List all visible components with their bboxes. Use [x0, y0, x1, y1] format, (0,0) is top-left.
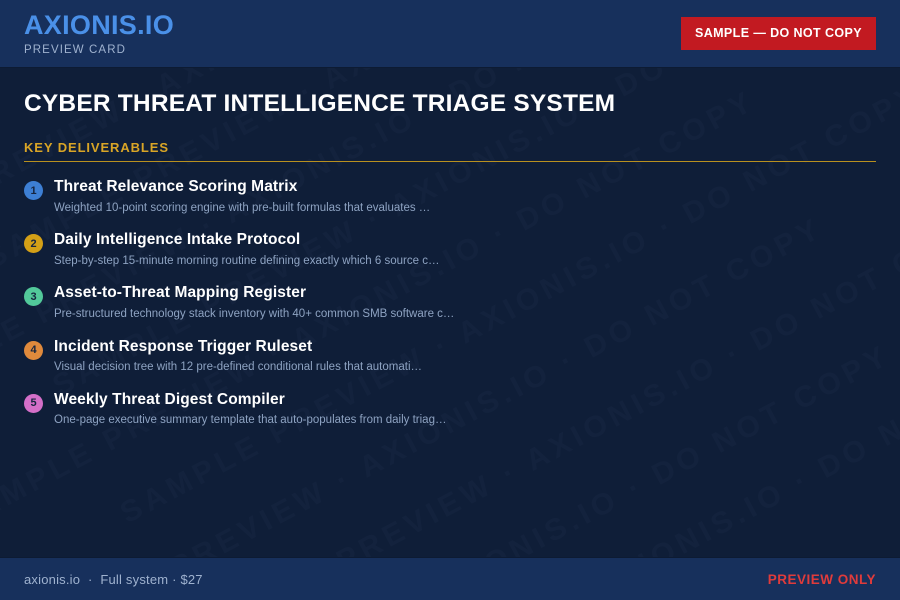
preview-only-label: PREVIEW ONLY: [768, 572, 876, 587]
deliverable-text: Threat Relevance Scoring MatrixWeighted …: [54, 178, 430, 216]
deliverable-title: Asset-to-Threat Mapping Register: [54, 284, 454, 303]
deliverable-title: Incident Response Trigger Ruleset: [54, 338, 422, 357]
deliverable-text: Incident Response Trigger RulesetVisual …: [54, 338, 422, 376]
deliverable-text: Asset-to-Threat Mapping RegisterPre-stru…: [54, 284, 454, 322]
deliverable-description: Step-by-step 15-minute morning routine d…: [54, 254, 439, 270]
brand-logo-text: AXIONIS.IO: [24, 11, 174, 39]
footer-detail: Full system · $27: [100, 572, 202, 587]
deliverable-number-badge: 3: [24, 287, 43, 306]
deliverable-number-badge: 5: [24, 394, 43, 413]
deliverable-title: Daily Intelligence Intake Protocol: [54, 231, 439, 250]
deliverable-description: Visual decision tree with 12 pre-defined…: [54, 360, 422, 376]
deliverable-item: 5Weekly Threat Digest CompilerOne-page e…: [24, 391, 876, 429]
section-label-key-deliverables: KEY DELIVERABLES: [24, 140, 876, 155]
deliverable-item: 4Incident Response Trigger RulesetVisual…: [24, 338, 876, 376]
sample-watermark-badge: SAMPLE — DO NOT COPY: [681, 17, 876, 50]
brand-block: AXIONIS.IO PREVIEW CARD: [24, 11, 174, 56]
deliverable-number-badge: 1: [24, 181, 43, 200]
deliverables-list: 1Threat Relevance Scoring MatrixWeighted…: [24, 178, 876, 429]
deliverable-title: Threat Relevance Scoring Matrix: [54, 178, 430, 197]
deliverable-number-badge: 2: [24, 234, 43, 253]
deliverable-title: Weekly Threat Digest Compiler: [54, 391, 446, 410]
section-divider: [24, 161, 876, 162]
card-header: AXIONIS.IO PREVIEW CARD SAMPLE — DO NOT …: [0, 0, 900, 68]
deliverable-description: Pre-structured technology stack inventor…: [54, 307, 454, 323]
deliverable-number-badge: 4: [24, 341, 43, 360]
footer-meta: axionis.io · Full system · $27: [24, 572, 203, 587]
deliverable-description: Weighted 10-point scoring engine with pr…: [54, 201, 430, 217]
footer-site: axionis.io: [24, 572, 80, 587]
deliverable-item: 2Daily Intelligence Intake ProtocolStep-…: [24, 231, 876, 269]
deliverable-description: One-page executive summary template that…: [54, 413, 446, 429]
deliverable-text: Weekly Threat Digest CompilerOne-page ex…: [54, 391, 446, 429]
deliverable-item: 1Threat Relevance Scoring MatrixWeighted…: [24, 178, 876, 216]
card-footer: axionis.io · Full system · $27 PREVIEW O…: [0, 557, 900, 600]
preview-card: SAMPLE PREVIEW · AXIONIS.IO · DO NOT COP…: [0, 0, 900, 600]
deliverable-text: Daily Intelligence Intake ProtocolStep-b…: [54, 231, 439, 269]
brand-subtitle: PREVIEW CARD: [24, 44, 174, 56]
footer-separator: ·: [84, 572, 97, 587]
deliverable-item: 3Asset-to-Threat Mapping RegisterPre-str…: [24, 284, 876, 322]
page-title: CYBER THREAT INTELLIGENCE TRIAGE SYSTEM: [24, 90, 876, 118]
card-body: CYBER THREAT INTELLIGENCE TRIAGE SYSTEM …: [0, 68, 900, 557]
